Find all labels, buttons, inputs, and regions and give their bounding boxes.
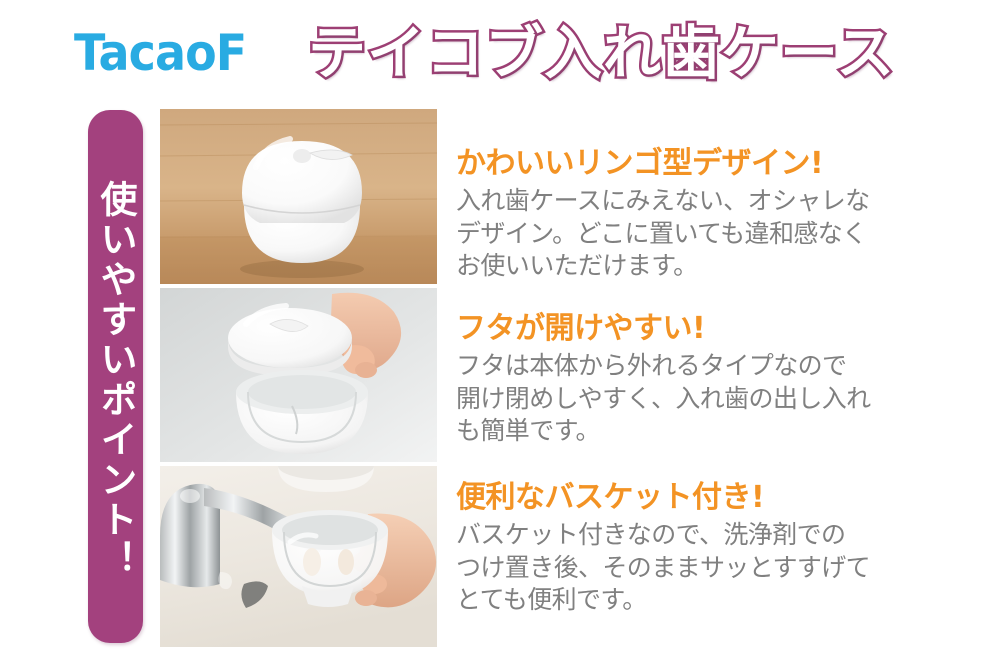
- feature-body-line: とても便利です。: [456, 584, 956, 617]
- feature-body-line: つけ置き後、そのままサッとすすげて: [456, 552, 956, 585]
- feature-body-line: デザイン。どこに置いても違和感なく: [456, 218, 956, 251]
- brand-logo: TacaoF: [74, 28, 246, 78]
- feature-body-line: も簡単です。: [456, 415, 956, 448]
- feature-title: フタが開けやすい!: [456, 311, 956, 346]
- feature-body: 入れ歯ケースにみえない、オシャレな デザイン。どこに置いても違和感なく お使いい…: [456, 185, 956, 283]
- feature-item-basket: 便利なバスケット付き! バスケット付きなので、洗浄剤での つけ置き後、そのままサ…: [456, 480, 956, 617]
- usability-points-label: 使いやすいポイント！: [88, 110, 143, 643]
- feature-body: フタは本体から外れるタイプなので 開け閉めしやすく、入れ歯の出し入れ も簡単です…: [456, 350, 956, 448]
- product-photo-column: [160, 109, 437, 647]
- page-title: テイコブ入れ歯ケース: [308, 24, 895, 82]
- feature-title: かわいいリンゴ型デザイン!: [456, 146, 956, 181]
- feature-body-line: バスケット付きなので、洗浄剤での: [456, 519, 956, 552]
- feature-body-line: 開け閉めしやすく、入れ歯の出し入れ: [456, 383, 956, 416]
- photo-hand-rinsing-basket: [160, 466, 437, 647]
- feature-list: かわいいリンゴ型デザイン! 入れ歯ケースにみえない、オシャレな デザイン。どこに…: [456, 146, 956, 639]
- feature-body-line: 入れ歯ケースにみえない、オシャレな: [456, 185, 956, 218]
- usability-points-banner: 使いやすいポイント！: [88, 110, 143, 643]
- advertisement-page: TacaoF テイコブ入れ歯ケース 使いやすいポイント！: [0, 0, 1000, 667]
- feature-body: バスケット付きなので、洗浄剤での つけ置き後、そのままサッとすすげて とても便利…: [456, 519, 956, 617]
- feature-item-design: かわいいリンゴ型デザイン! 入れ歯ケースにみえない、オシャレな デザイン。どこに…: [456, 146, 956, 283]
- feature-item-lid: フタが開けやすい! フタは本体から外れるタイプなので 開け閉めしやすく、入れ歯の…: [456, 311, 956, 448]
- feature-body-line: お使いいただけます。: [456, 250, 956, 283]
- feature-title: 便利なバスケット付き!: [456, 480, 956, 515]
- photo-apple-case-on-wood: [160, 109, 437, 284]
- photo-hand-opening-lid: [160, 288, 437, 462]
- feature-body-line: フタは本体から外れるタイプなので: [456, 350, 956, 383]
